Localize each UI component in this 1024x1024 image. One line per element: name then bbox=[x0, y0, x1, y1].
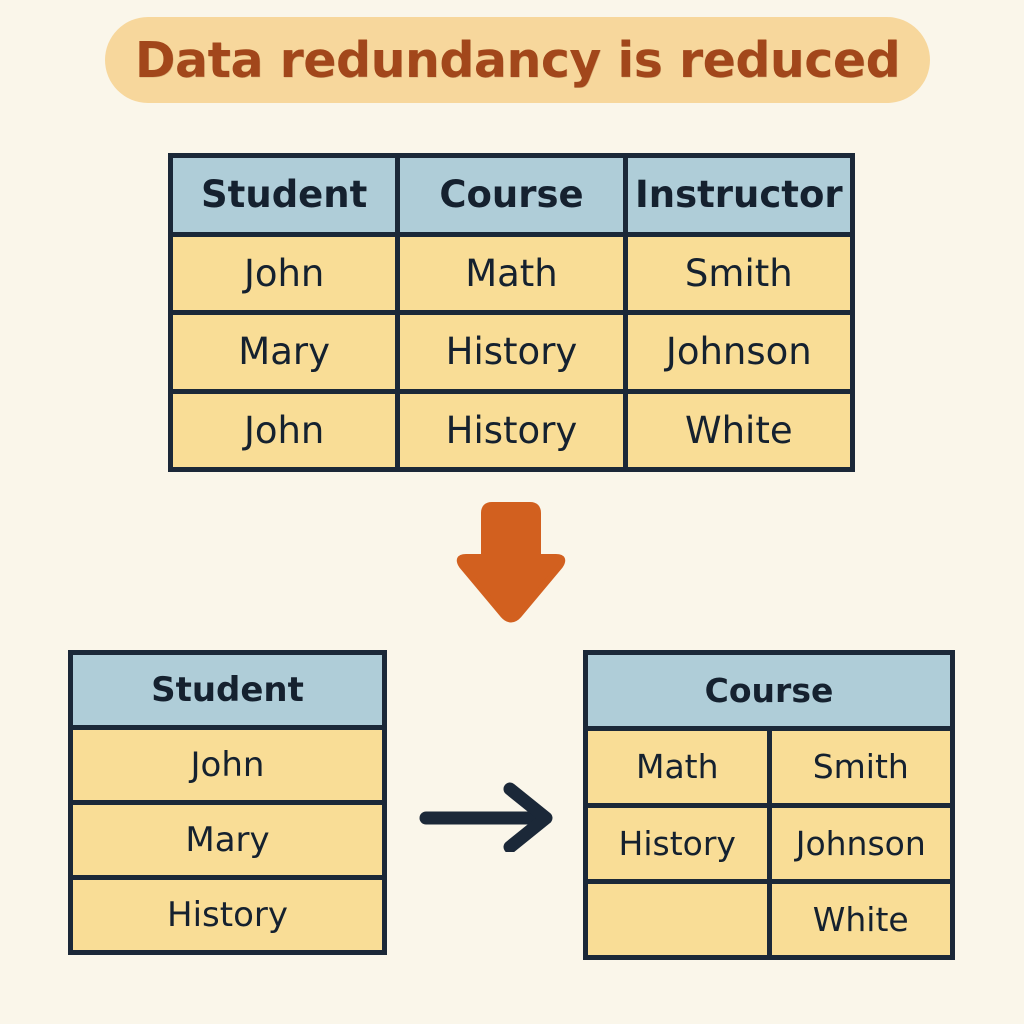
cell-course: History bbox=[400, 394, 622, 468]
header-cell-instructor: Instructor bbox=[628, 158, 850, 232]
cell-student: John bbox=[173, 237, 395, 311]
cell-course: History bbox=[588, 808, 767, 879]
cell-instructor: Johnson bbox=[772, 808, 951, 879]
cell-student: John bbox=[173, 394, 395, 468]
cell-instructor: White bbox=[772, 884, 951, 955]
header-cell-student: Student bbox=[73, 655, 382, 725]
header-cell-course: Course bbox=[588, 655, 950, 726]
arrow-right-icon bbox=[418, 780, 568, 852]
table-student: Student John Mary History bbox=[68, 650, 387, 955]
table-row: John Math Smith bbox=[173, 237, 850, 311]
table-header-row: Student Course Instructor bbox=[173, 158, 850, 232]
cell-course: History bbox=[400, 315, 622, 389]
cell-student: John bbox=[73, 730, 382, 800]
table-row: History Johnson bbox=[588, 808, 950, 879]
cell-course: Math bbox=[588, 731, 767, 802]
table-row: Math Smith bbox=[588, 731, 950, 802]
table-row: John bbox=[73, 730, 382, 800]
table-course: Course Math Smith History Johnson White bbox=[583, 650, 955, 960]
cell-instructor: White bbox=[628, 394, 850, 468]
table-original: Student Course Instructor John Math Smit… bbox=[168, 153, 855, 472]
table-header-row: Student bbox=[73, 655, 382, 725]
table-row: Mary bbox=[73, 805, 382, 875]
table-row: White bbox=[588, 884, 950, 955]
table-header-row: Course bbox=[588, 655, 950, 726]
cell-course: Math bbox=[400, 237, 622, 311]
cell-course bbox=[588, 884, 767, 955]
diagram-canvas: Data redundancy is reduced Student Cours… bbox=[0, 0, 1024, 1024]
cell-instructor: Smith bbox=[628, 237, 850, 311]
table-row: History bbox=[73, 880, 382, 950]
cell-student: Mary bbox=[173, 315, 395, 389]
page-title: Data redundancy is reduced bbox=[135, 32, 900, 89]
cell-instructor: Smith bbox=[772, 731, 951, 802]
table-row: Mary History Johnson bbox=[173, 315, 850, 389]
header-cell-student: Student bbox=[173, 158, 395, 232]
title-banner: Data redundancy is reduced bbox=[105, 17, 930, 103]
cell-instructor: Johnson bbox=[628, 315, 850, 389]
header-cell-course: Course bbox=[400, 158, 622, 232]
cell-student: History bbox=[73, 880, 382, 950]
table-row: John History White bbox=[173, 394, 850, 468]
arrow-down-icon bbox=[452, 495, 570, 625]
cell-student: Mary bbox=[73, 805, 382, 875]
